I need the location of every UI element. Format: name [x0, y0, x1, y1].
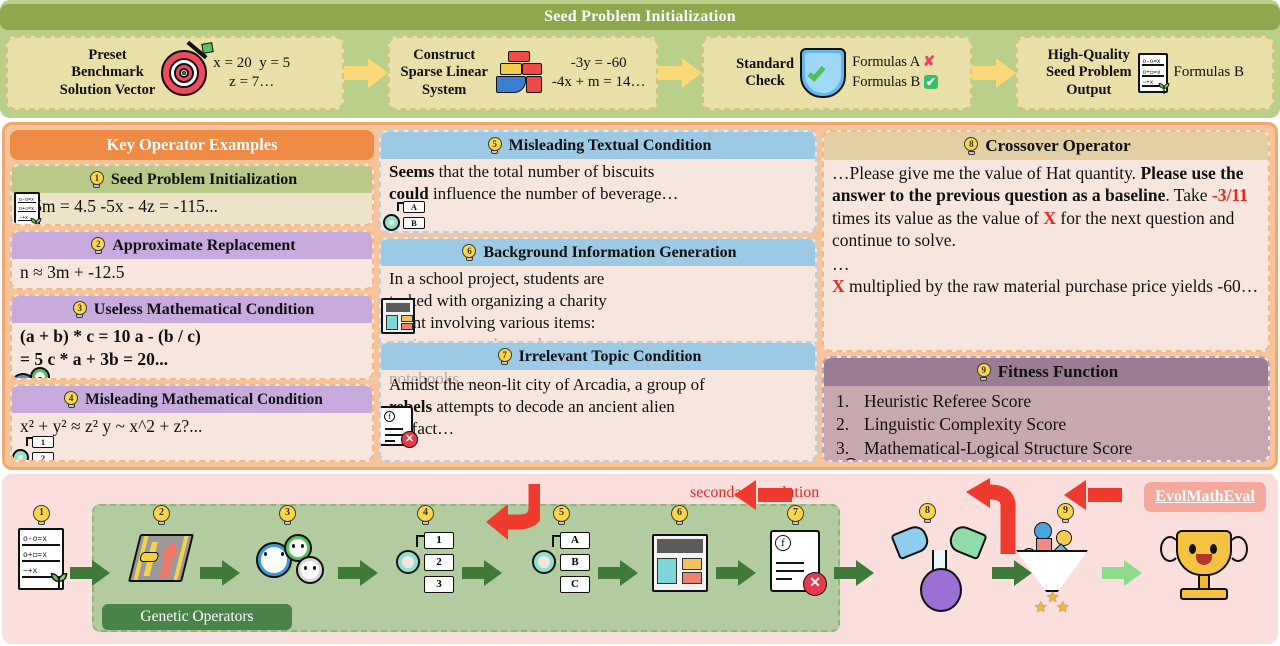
card-8-title: Crossover Operator [985, 132, 1130, 160]
card-approximate-replacement[interactable]: 2 Approximate Replacement n ≈ 3m + -12.5 [10, 230, 374, 290]
trophy-cup [1176, 530, 1232, 576]
top-pipeline-row: PresetBenchmarkSolution Vector x = 20 y … [6, 34, 1274, 112]
card-8-line-1: …Please give me the value of Hat quantit… [832, 163, 1136, 183]
card-7-line-3: artifact… [389, 418, 807, 440]
pipeline-node-8[interactable] [894, 526, 984, 612]
card-3-line-1: (a + b) * c = 10 a - (b / c) [20, 325, 364, 348]
lightbulb-icon-step-3: 3 [276, 504, 300, 528]
flow-abc-icon: A B C [383, 201, 425, 233]
math-doc-icon: o-o=xo+◻=x−+x [1138, 53, 1168, 93]
card-1-header: 1 Seed Problem Initialization [12, 166, 372, 193]
card-7-title: Irrelevant Topic Condition [519, 343, 702, 370]
car-icon [139, 552, 159, 562]
operator-column-right: 8 Crossover Operator …Please give me the… [822, 130, 1270, 462]
arrow-right-icon-1 [344, 58, 388, 88]
green-arrow-1 [70, 560, 110, 586]
red-arrow-curve-down [478, 478, 540, 548]
card-6-header: 6 Background Information Generation [381, 239, 815, 266]
arrow-right-icon-3 [972, 58, 1016, 88]
lightbulb-icon-4: 4 [61, 390, 81, 410]
lightbulb-icon-step-8: 8 [916, 502, 940, 526]
card-8-mid-1: . Take [1165, 185, 1212, 205]
top-step-preset-benchmark: PresetBenchmarkSolution Vector x = 20 y … [6, 36, 344, 110]
error-badge-icon: ✕ [803, 572, 827, 596]
leaf-icon [1157, 81, 1171, 94]
green-arrow-9 [1102, 560, 1142, 586]
card-3-body: (a + b) * c = 10 a - (b / c) = 5 c * a +… [12, 323, 372, 380]
lightbulb-icon-5: 5 [485, 136, 505, 156]
cog-icon [396, 550, 420, 574]
beaker-blue-icon [890, 523, 932, 561]
top-step-construct-sparse: ConstructSparse LinearSystem -3y = -60-4… [388, 36, 658, 110]
card-1-formula: 0.5m = 4.5 -5x - 4z = -115... [20, 196, 218, 216]
brand-badge-evolmatheval: EvolMathEval [1144, 482, 1266, 512]
math-doc-icon: o-o=xo+◻=x−+x [18, 528, 64, 590]
function-symbol-icon: f [775, 535, 791, 551]
lightbulb-icon-step-2: 2 [150, 504, 174, 528]
card-8-red-x-2: X [832, 276, 845, 296]
green-arrow-2 [200, 560, 240, 586]
card-misleading-mathematical-condition[interactable]: 4 Misleading Mathematical Condition x² +… [10, 384, 374, 462]
card-6-body: In a school project, students are tasked… [381, 266, 815, 349]
card-7-line-2: rebels attempts to decode an ancient ali… [389, 396, 807, 418]
top-section-title: Seed Problem Initialization [0, 4, 1280, 30]
flow-box-b: B [560, 554, 590, 571]
card-7-overflow-text: notebooks… [389, 368, 476, 390]
top-step-2-formula: -3y = -60-4x + m = 14… [552, 54, 646, 93]
card-background-information-generation[interactable]: 6 Background Information Generation In a… [379, 237, 817, 349]
lightbulb-icon-3: 3 [70, 300, 90, 320]
card-9-header: 9 Fitness Function [824, 358, 1268, 386]
card-6-title: Background Information Generation [483, 239, 736, 266]
card-9-body: 1.Heuristic Referee Score 2.Linguistic C… [824, 386, 1268, 462]
panel-title-key-operator-examples: Key Operator Examples [10, 130, 374, 160]
top-step-1-label: PresetBenchmarkSolution Vector [60, 47, 155, 98]
card-8-ellipsis: … [832, 253, 1260, 275]
flow-box-a: A [560, 532, 590, 549]
card-fitness-function[interactable]: 9 Fitness Function 1.Heuristic Referee S… [822, 356, 1270, 462]
cog-icon [12, 449, 29, 462]
card-8-body: …Please give me the value of Hat quantit… [824, 160, 1268, 352]
card-1-title: Seed Problem Initialization [111, 166, 297, 193]
card-6-line-1: In a school project, students are [389, 268, 807, 290]
lightbulb-icon-step-9: 9 [1054, 502, 1078, 526]
pipeline-node-trophy[interactable] [1160, 524, 1248, 610]
genetic-operators-label: Genetic Operators [102, 604, 292, 630]
lightbulb-icon-8: 8 [961, 136, 981, 156]
flow-box-1: 1 [32, 436, 54, 448]
lightbulb-icon-step-7: 7 [784, 504, 808, 528]
card-2-header: 2 Approximate Replacement [12, 232, 372, 259]
card-5-line-1: Seems that the total number of biscuits [389, 161, 807, 183]
operator-column-middle: 5 Misleading Textual Condition Seems tha… [379, 130, 817, 462]
lightbulb-icon-9: 9 [974, 362, 994, 382]
top-step-2-label: ConstructSparse LinearSystem [401, 47, 488, 98]
lego-bricks-icon [494, 51, 546, 95]
flow-box-1: 1 [424, 532, 454, 549]
leaf-icon [48, 570, 70, 590]
card-4-body: x² + y² ≈ z² y ~ x^2 + z?... 1 2 3 [12, 413, 372, 462]
green-arrow-3 [338, 560, 378, 586]
green-arrow-5 [598, 560, 638, 586]
card-8-mid-2: times its value as the value of [832, 208, 1043, 228]
pipeline-node-7[interactable]: f ✕ [770, 530, 820, 592]
card-2-title: Approximate Replacement [112, 232, 295, 259]
flow-box-b: B [403, 217, 425, 229]
cog-icon [383, 214, 400, 231]
pipeline-node-3[interactable] [256, 534, 330, 588]
card-6-line-2: tasked with organizing a charity [389, 290, 807, 312]
top-step-standard-check: StandardCheck Formulas A ✘ Formulas B ✔ [702, 36, 972, 110]
card-3-line-2: = 5 c * a + 3b = 20... [20, 348, 364, 371]
pipeline-node-4[interactable]: 1 2 3 [396, 532, 454, 594]
card-useless-mathematical-condition[interactable]: 3 Useless Mathematical Condition (a + b)… [10, 294, 374, 380]
seed-problem-initialization-section: Seed Problem Initialization PresetBenchm… [0, 0, 1280, 118]
card-5-title: Misleading Textual Condition [509, 132, 712, 159]
lightbulb-icon-6: 6 [459, 243, 479, 263]
evolution-pipeline-section: Genetic Operators EvolMathEval secondary… [2, 474, 1278, 644]
lightbulb-icon-2: 2 [88, 236, 108, 256]
pipeline-node-1[interactable]: o-o=xo+◻=x−+x [18, 528, 64, 590]
card-9-title: Fitness Function [998, 358, 1118, 386]
card-7-body: notebooks… Amidst the neon-lit city of A… [381, 370, 815, 462]
card-irrelevant-topic-condition[interactable]: 7 Irrelevant Topic Condition notebooks… … [379, 341, 817, 462]
road-arrow-icon [128, 534, 194, 582]
fitness-score-list: 1.Heuristic Referee Score 2.Linguistic C… [832, 390, 1260, 460]
list-item: 1.Heuristic Referee Score [836, 390, 1260, 413]
card-8-red-fraction: -3/11 [1212, 185, 1248, 205]
card-6-line-3: event involving various items: [389, 312, 807, 334]
target-icon [161, 50, 207, 96]
card-5-line-2: could influence the number of beverage… [389, 183, 807, 205]
hook-arrow-icon [26, 437, 35, 446]
top-step-3-formulas: Formulas A ✘ Formulas B ✔ [852, 53, 938, 92]
flow-box-3: 3 [424, 576, 454, 593]
green-arrow-7 [834, 560, 874, 586]
list-item: 2.Linguistic Complexity Score [836, 413, 1260, 436]
top-step-4-formula: Formulas B [1174, 63, 1244, 83]
card-crossover-operator[interactable]: 8 Crossover Operator …Please give me the… [822, 130, 1270, 352]
list-item: 3.Mathematical-Logical Structure Score [836, 437, 1260, 460]
top-step-4-label: High-QualitySeed ProblemOutput [1046, 47, 1132, 98]
card-3-title: Useless Mathematical Condition [94, 296, 314, 323]
flow-box-c: C [560, 576, 590, 593]
shield-check-icon [800, 48, 846, 98]
beaker-green-icon [946, 523, 988, 561]
card-5-body: Seems that the total number of biscuits … [381, 159, 815, 233]
leaf-icon [29, 216, 43, 226]
card-5-header: 5 Misleading Textual Condition [381, 132, 815, 159]
card-2-body: n ≈ 3m + -12.5 [12, 259, 372, 287]
formula-b-label: Formulas B [852, 74, 920, 90]
check-icon: ✔ [924, 75, 938, 89]
flow-123-icon: 1 2 3 [12, 436, 54, 462]
card-4-header: 4 Misleading Mathematical Condition [12, 386, 372, 413]
pipeline-node-5[interactable]: A B C [532, 532, 590, 594]
card-seed-problem-initialization[interactable]: 1 Seed Problem Initialization 0.5m = 4.5… [10, 164, 374, 226]
gear-blue-icon [10, 373, 36, 381]
flask-body-icon [920, 568, 962, 612]
card-misleading-textual-condition[interactable]: 5 Misleading Textual Condition Seems tha… [379, 130, 817, 233]
lightbulb-icon-step-4: 4 [414, 504, 438, 528]
card-1-body: 0.5m = 4.5 -5x - 4z = -115... o-o=xo+◻=x… [12, 193, 372, 226]
green-arrow-6 [716, 560, 756, 586]
card-8-red-x-1: X [1043, 208, 1056, 228]
flow-box-2: 2 [424, 554, 454, 571]
arrow-right-icon-2 [658, 58, 702, 88]
card-3-header: 3 Useless Mathematical Condition [12, 296, 372, 323]
flow-box-2: 2 [32, 452, 54, 462]
key-operator-examples-section: Key Operator Examples 1 Seed Problem Ini… [2, 122, 1278, 470]
pipeline-node-6[interactable] [652, 534, 708, 592]
top-step-high-quality-output: High-QualitySeed ProblemOutput o-o=xo+◻=… [1016, 36, 1274, 110]
gear-gray-icon [296, 556, 324, 584]
lightbulb-icon-7: 7 [495, 347, 515, 367]
lightbulb-icon-step-1: 1 [30, 504, 54, 528]
cross-icon: ✘ [923, 54, 935, 70]
formula-a-label: Formulas A [852, 54, 919, 70]
card-8-header: 8 Crossover Operator [824, 132, 1268, 160]
card-4-formula: x² + y² ≈ z² y ~ x^2 + z?... [20, 416, 202, 436]
card-2-formula: n ≈ 3m + -12.5 [20, 262, 125, 282]
operator-column-left: Key Operator Examples 1 Seed Problem Ini… [10, 130, 374, 462]
pipeline-node-2[interactable] [134, 534, 188, 582]
card-7-header: 7 Irrelevant Topic Condition [381, 343, 815, 370]
cog-icon [532, 550, 556, 574]
top-step-1-formula: x = 20 y = 5z = 7… [213, 54, 290, 93]
top-step-3-label: StandardCheck [736, 56, 794, 90]
green-arrow-4 [462, 560, 502, 586]
lightbulb-icon-step-5: 5 [550, 504, 574, 528]
lightbulb-icon-step-6: 6 [668, 504, 692, 528]
card-8-last-line: X multiplied by the raw material purchas… [832, 275, 1260, 297]
lightbulb-icon-1: 1 [87, 170, 107, 190]
card-4-title: Misleading Mathematical Condition [85, 386, 323, 413]
pipeline-node-9[interactable]: ★ ★ ★ [1008, 520, 1094, 612]
